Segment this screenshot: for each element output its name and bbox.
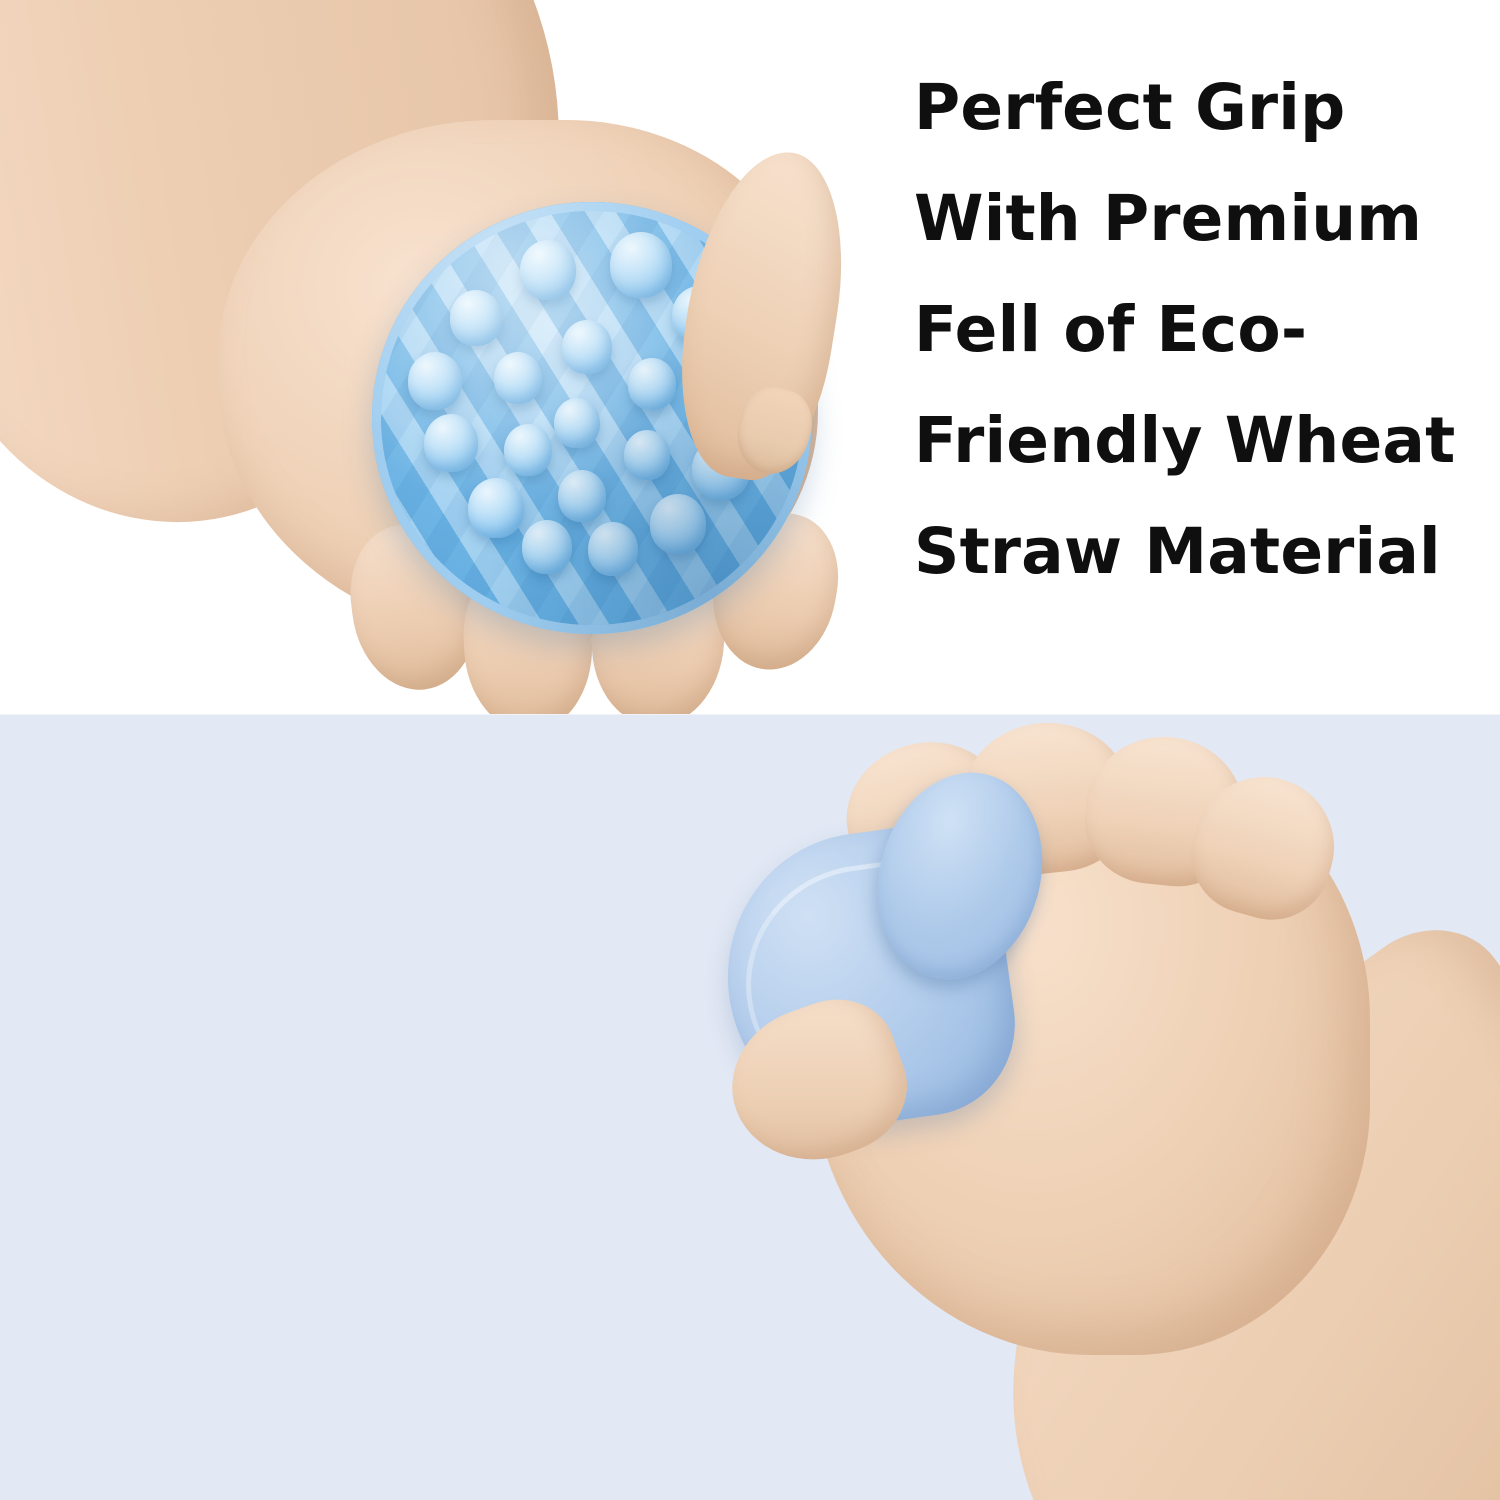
silicone-bristle [408, 352, 462, 410]
silicone-bristle [610, 232, 672, 298]
headline-line: With Premium [914, 163, 1474, 274]
silicone-bristle [504, 424, 552, 476]
headline-line: Straw Material [914, 496, 1474, 607]
silicone-bristle [650, 494, 706, 554]
silicone-bristle [554, 398, 600, 448]
headline-line: Friendly Wheat [914, 385, 1474, 496]
palm-holding-massager-photo [0, 0, 900, 715]
silicone-bristle [494, 352, 542, 404]
top-headline: Perfect Grip With Premium Fell of Eco- F… [914, 52, 1474, 607]
silicone-bristle [520, 240, 576, 300]
bottom-feature-panel: Soft Silicone Bristles that Exfoloat Sca… [0, 715, 1500, 1500]
silicone-bristle [522, 520, 572, 574]
silicone-bristle [558, 470, 606, 522]
silicone-bristle [562, 320, 612, 374]
silicone-bristle [450, 290, 502, 346]
product-infographic-page: Perfect Grip With Premium Fell of Eco- F… [0, 0, 1500, 1500]
silicone-bristle [424, 414, 478, 472]
silicone-bristle [468, 478, 524, 538]
headline-line: Fell of Eco- [914, 274, 1474, 385]
silicone-bristle [588, 522, 638, 576]
top-feature-panel: Perfect Grip With Premium Fell of Eco- F… [0, 0, 1500, 715]
silicone-bristle [624, 430, 670, 480]
silicone-bristle [628, 358, 676, 410]
fist-gripping-massager-photo [700, 715, 1500, 1500]
headline-line: Perfect Grip [914, 52, 1474, 163]
